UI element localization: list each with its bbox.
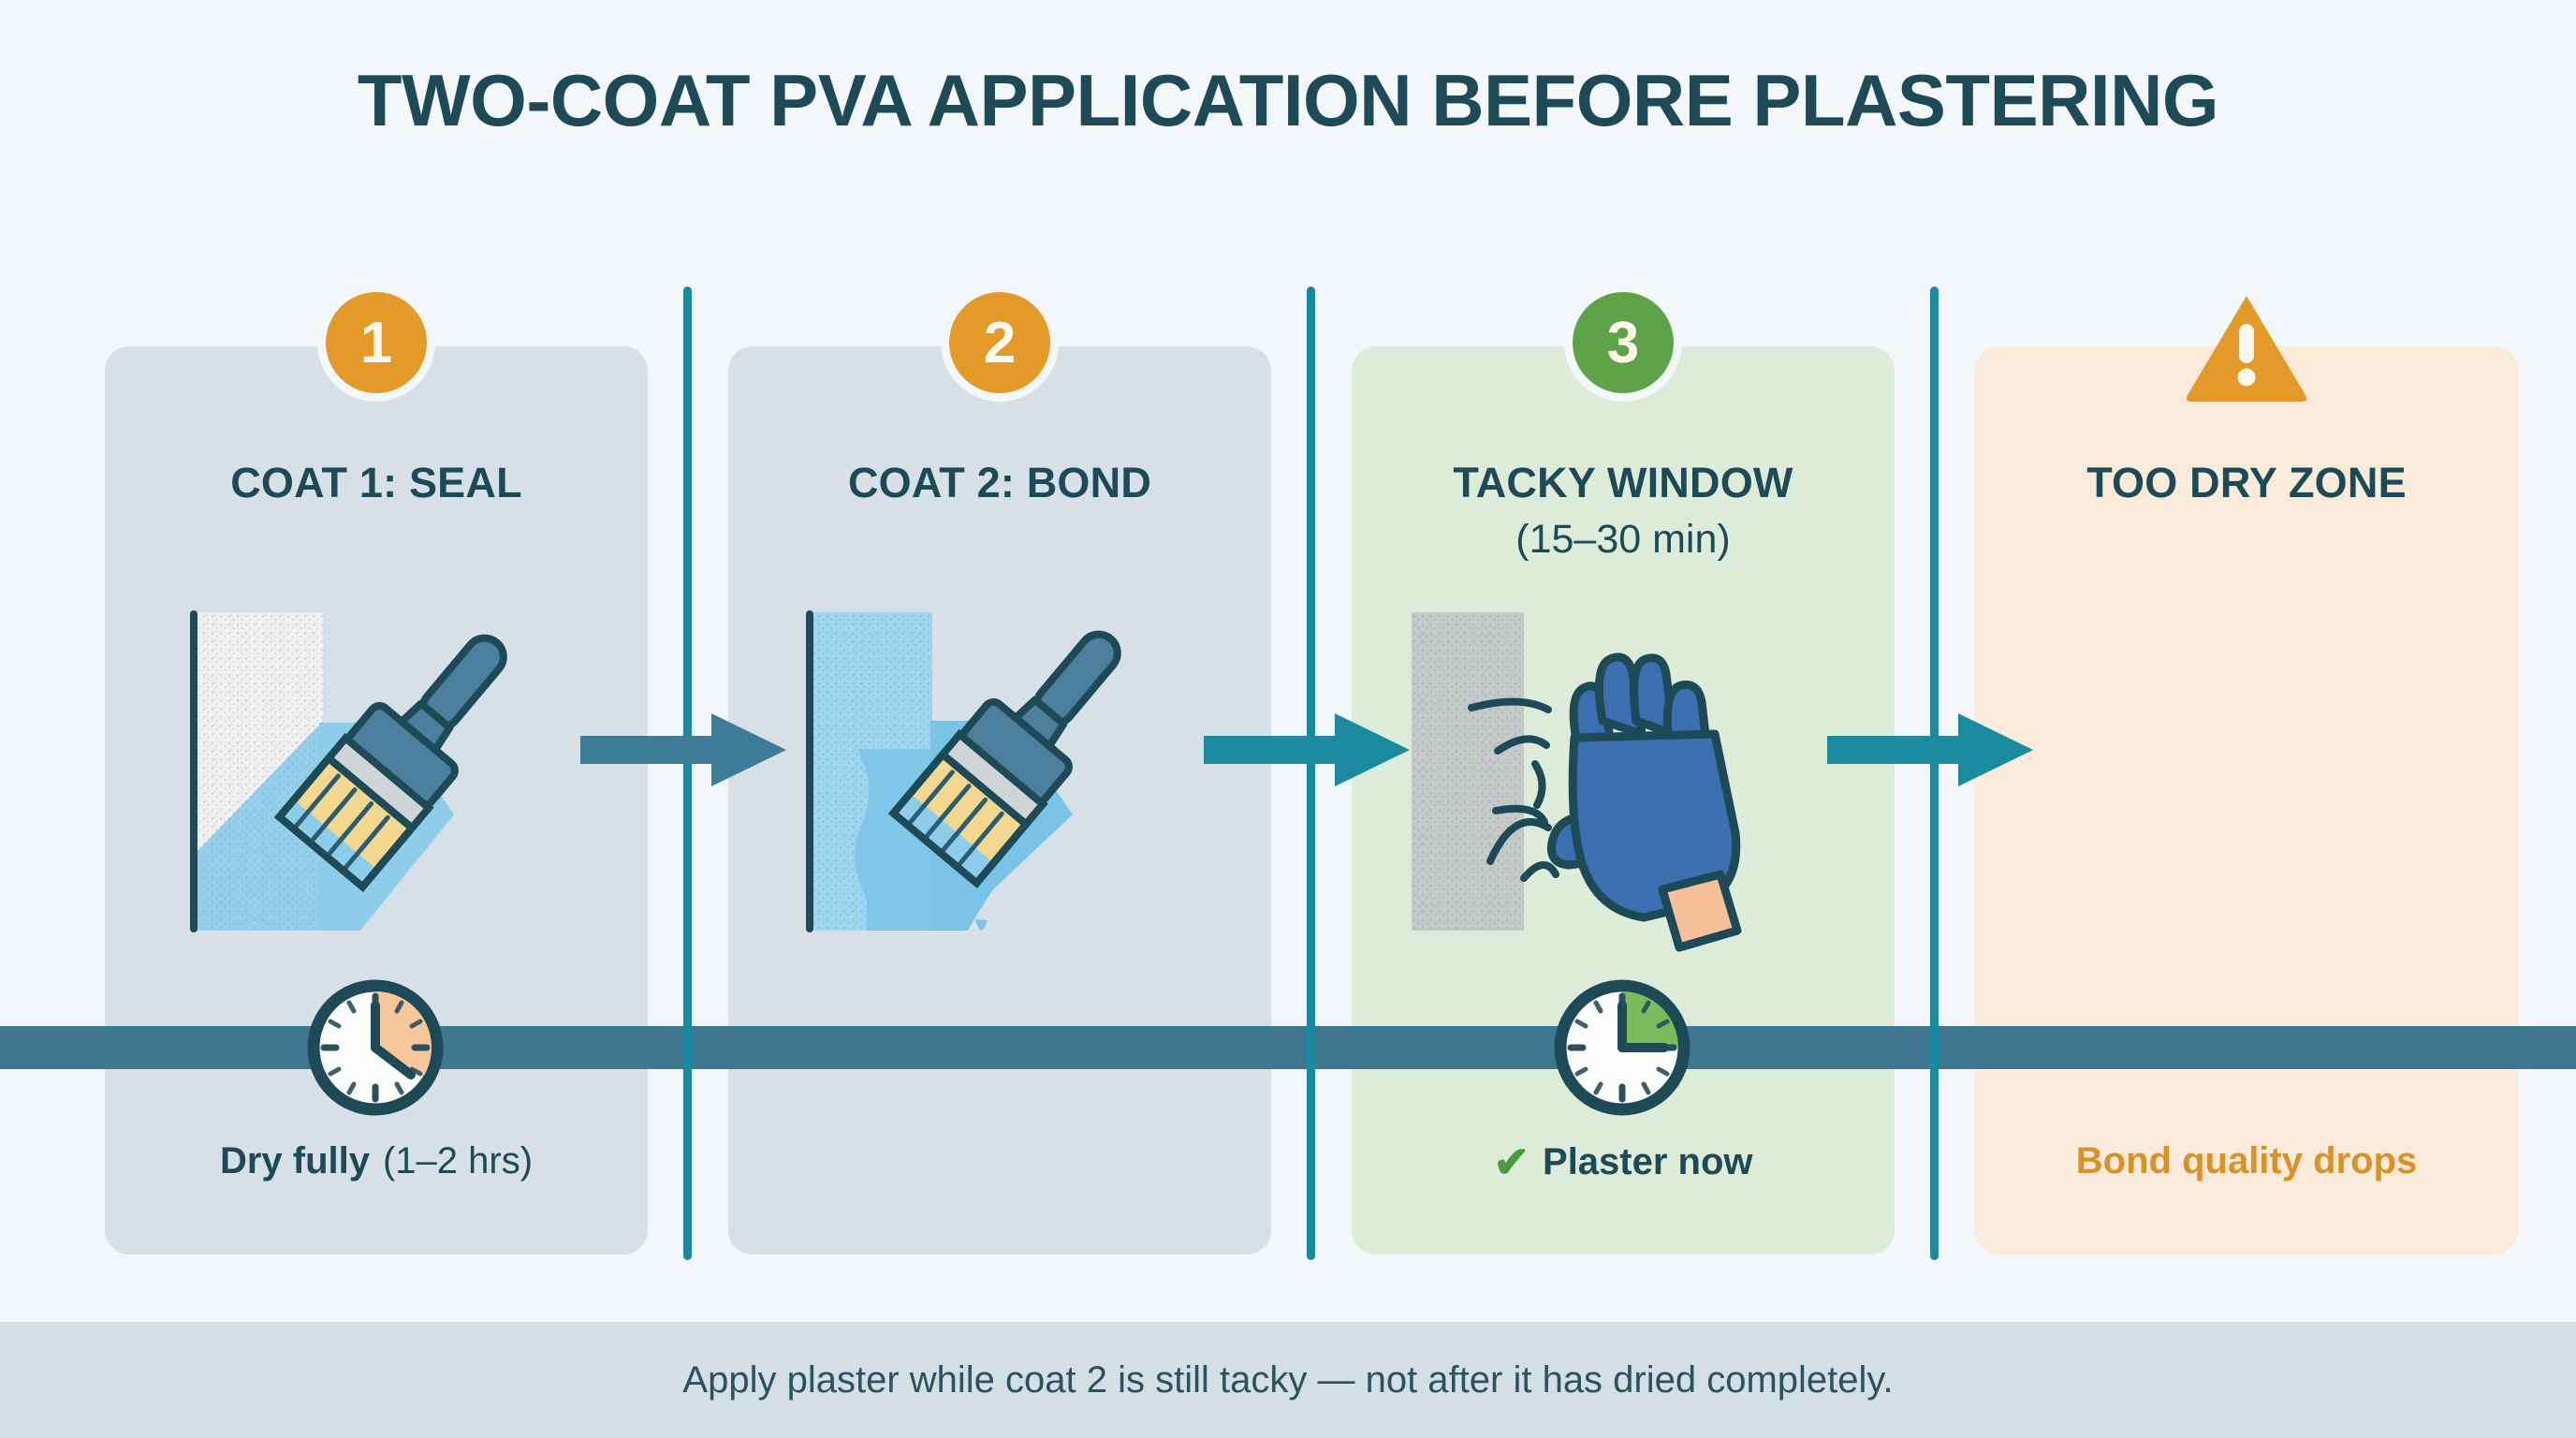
panel-1-footnote-bold: Dry fully xyxy=(220,1140,370,1182)
check-icon: ✔ xyxy=(1493,1140,1529,1183)
flow-arrow-2 xyxy=(1204,713,1410,786)
step-badge-1-label: 1 xyxy=(360,310,392,376)
panel-1-footnote: Dry fully (1–2 hrs) xyxy=(105,1140,648,1182)
step-badge-2-label: 2 xyxy=(984,310,1016,376)
panel-3-footnote-bold: Plaster now xyxy=(1543,1141,1753,1183)
step-badge-3: 3 xyxy=(1573,292,1674,393)
illustration-coat2 xyxy=(792,580,1241,974)
footer-caption: Apply plaster while coat 2 is still tack… xyxy=(682,1359,1893,1401)
panel-1-heading: COAT 1: SEAL xyxy=(105,459,648,507)
panel-3-footnote: ✔ Plaster now xyxy=(1352,1140,1895,1183)
panel-1-footnote-normal: (1–2 hrs) xyxy=(383,1140,533,1182)
flow-arrow-1 xyxy=(580,713,786,786)
step-badge-1: 1 xyxy=(326,292,427,393)
panel-4-footnote: Bond quality drops xyxy=(1975,1140,2518,1182)
panel-4-footnote-bold: Bond quality drops xyxy=(2076,1140,2417,1182)
infographic-canvas: TWO-COAT PVA APPLICATION BEFORE PLASTERI… xyxy=(0,0,2576,1438)
page-title: TWO-COAT PVA APPLICATION BEFORE PLASTERI… xyxy=(0,58,2576,143)
step-badge-3-label: 3 xyxy=(1607,310,1639,376)
clock-icon-dry-time xyxy=(305,977,446,1118)
step-badge-2: 2 xyxy=(949,292,1050,393)
warning-triangle-icon xyxy=(2184,290,2309,403)
illustration-tacky-touch xyxy=(1404,580,1891,974)
panel-3-subtitle: (15–30 min) xyxy=(1352,517,1895,563)
footer-band: Apply plaster while coat 2 is still tack… xyxy=(0,1322,2576,1438)
panel-3-heading: TACKY WINDOW xyxy=(1352,459,1895,507)
clock-icon-tacky-window xyxy=(1552,977,1692,1118)
flow-arrow-3 xyxy=(1827,713,2033,786)
panel-4-heading: TOO DRY ZONE xyxy=(1975,459,2518,507)
panel-2-heading: COAT 2: BOND xyxy=(728,459,1271,507)
illustration-coat1 xyxy=(168,580,618,974)
